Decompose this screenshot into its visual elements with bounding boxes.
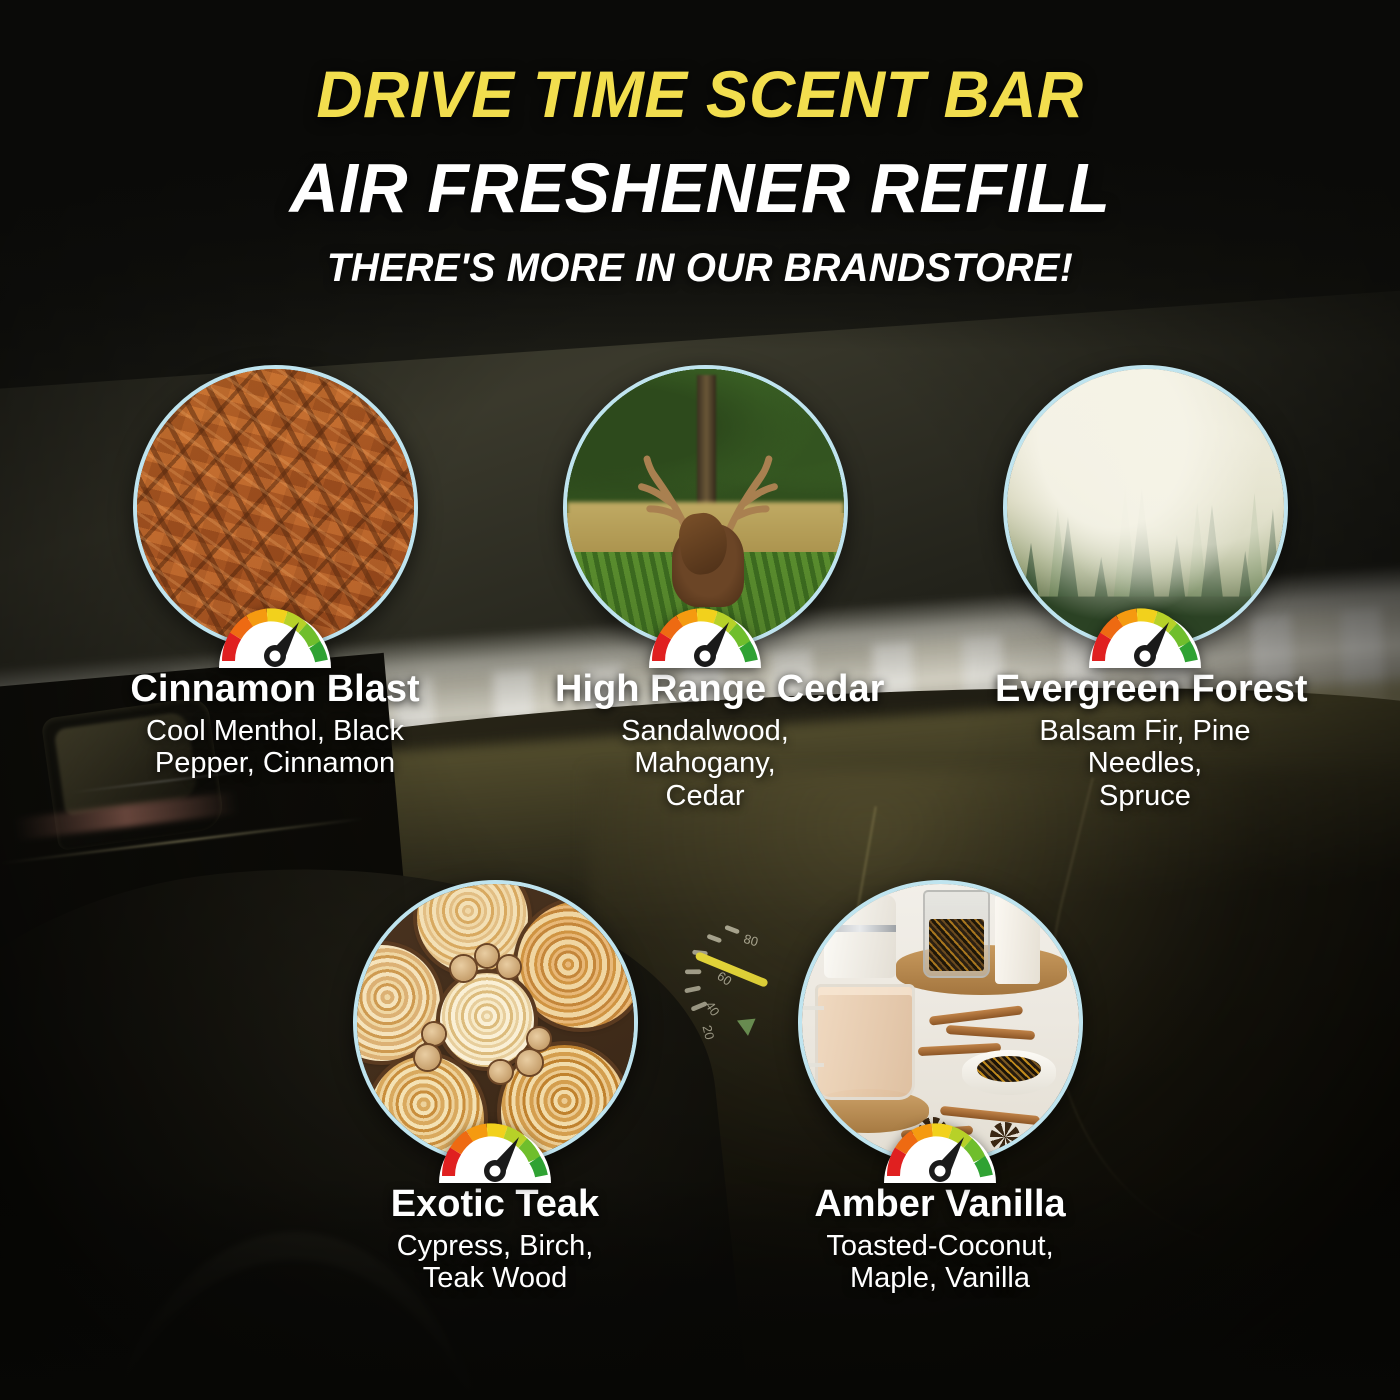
scent-strength-gauge-icon: [1085, 596, 1205, 668]
scent-card-evergreen-forest[interactable]: Evergreen Forest Balsam Fir, Pine Needle…: [995, 365, 1295, 813]
scent-notes: Balsam Fir, Pine Needles, Spruce: [995, 715, 1295, 813]
scent-notes: Cypress, Birch, Teak Wood: [345, 1230, 645, 1296]
scent-card-amber-vanilla[interactable]: Amber Vanilla Toasted-Coconut, Maple, Va…: [790, 880, 1090, 1295]
headline-primary: DRIVE TIME SCENT BAR: [21, 56, 1379, 132]
scent-name: High Range Cedar: [555, 670, 855, 710]
scent-notes: Cool Menthol, Black Pepper, Cinnamon: [125, 715, 425, 781]
scent-card-high-range-cedar[interactable]: High Range Cedar Sandalwood, Mahogany, C…: [555, 365, 855, 813]
scent-image-wrap: [133, 365, 418, 650]
scent-image-wrap: [798, 880, 1083, 1165]
scent-image-wrap: [1003, 365, 1288, 650]
scent-strength-gauge-icon: [435, 1111, 555, 1183]
scent-notes: Sandalwood, Mahogany, Cedar: [555, 715, 855, 813]
scent-card-exotic-teak[interactable]: Exotic Teak Cypress, Birch, Teak Wood: [345, 880, 645, 1295]
scent-notes: Toasted-Coconut, Maple, Vanilla: [790, 1230, 1090, 1296]
product-infographic: 80 60 40 20 DRIVE TIME SCENT BAR AIR FRE…: [0, 0, 1400, 1400]
scent-name: Cinnamon Blast: [125, 670, 425, 710]
scent-name: Evergreen Forest: [995, 670, 1295, 710]
scent-name: Amber Vanilla: [790, 1185, 1090, 1225]
headline-tagline: THERE'S MORE IN OUR BRANDSTORE!: [21, 246, 1379, 291]
scent-name: Exotic Teak: [345, 1185, 645, 1225]
scent-strength-gauge-icon: [645, 596, 765, 668]
header: DRIVE TIME SCENT BAR AIR FRESHENER REFIL…: [0, 0, 1400, 291]
scent-image-wrap: [563, 365, 848, 650]
scent-card-cinnamon-blast[interactable]: Cinnamon Blast Cool Menthol, Black Peppe…: [125, 365, 425, 780]
headline-secondary: AIR FRESHENER REFILL: [21, 148, 1379, 228]
scent-strength-gauge-icon: [215, 596, 335, 668]
scent-image-wrap: [353, 880, 638, 1165]
scent-strength-gauge-icon: [880, 1111, 1000, 1183]
